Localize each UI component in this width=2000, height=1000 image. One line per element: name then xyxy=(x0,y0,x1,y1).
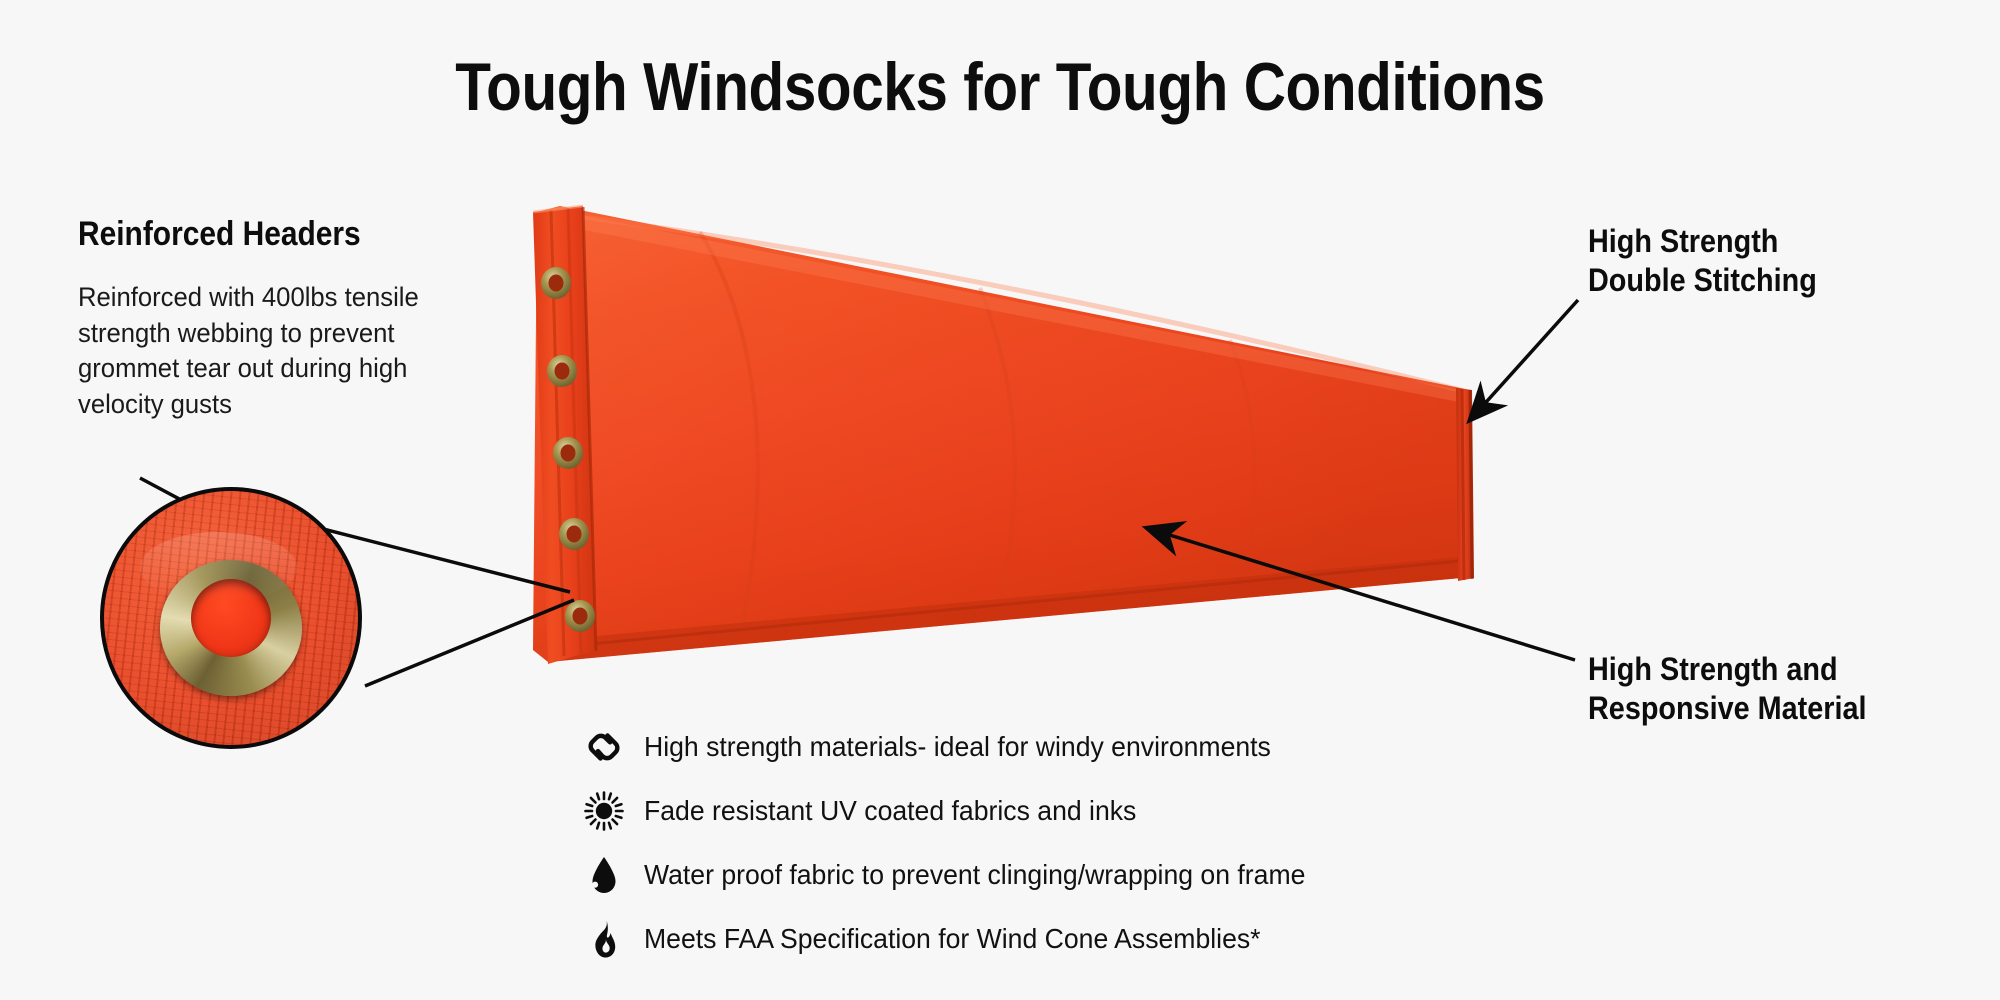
double-stitched-tail xyxy=(1456,388,1474,581)
sun-icon xyxy=(578,790,630,832)
grommet-highlight xyxy=(140,532,297,603)
callout-responsive-material: High Strength and Responsive Material xyxy=(1588,650,1867,728)
arrow-double-stitching xyxy=(1470,300,1578,420)
grommet-closeup-circle xyxy=(100,487,362,749)
flame-icon xyxy=(578,918,630,960)
feature-item-materials: High strength materials- ideal for windy… xyxy=(578,715,1578,779)
grommet xyxy=(559,518,589,550)
callout-responsive-material-line2: Responsive Material xyxy=(1588,689,1867,728)
grommet xyxy=(565,600,595,632)
feature-item-waterproof: Water proof fabric to prevent clinging/w… xyxy=(578,843,1578,907)
callout-double-stitching-line2: Double Stitching xyxy=(1588,261,1817,300)
water-drop-icon xyxy=(578,854,630,896)
page-title: Tough Windsocks for Tough Conditions xyxy=(140,48,1860,126)
callout-responsive-material-line1: High Strength and xyxy=(1588,650,1867,689)
feature-item-faa: Meets FAA Specification for Wind Cone As… xyxy=(578,907,1578,971)
feature-item-label: Fade resistant UV coated fabrics and ink… xyxy=(644,795,1136,827)
reinforced-headers-body: Reinforced with 400lbs tensile strength … xyxy=(78,280,420,423)
windsock-body xyxy=(533,206,1472,662)
grommet xyxy=(541,267,571,299)
chain-link-icon xyxy=(578,726,630,768)
grommet xyxy=(547,355,577,387)
feature-item-label: Meets FAA Specification for Wind Cone As… xyxy=(644,923,1261,955)
grommet xyxy=(553,437,583,469)
feature-list: High strength materials- ideal for windy… xyxy=(578,715,1578,971)
feature-item-label: High strength materials- ideal for windy… xyxy=(644,731,1271,763)
callout-double-stitching-line1: High Strength xyxy=(1588,222,1817,261)
callout-double-stitching: High Strength Double Stitching xyxy=(1588,222,1817,300)
magnifier-line-bottom xyxy=(365,600,574,686)
grommet-group xyxy=(541,267,595,632)
reinforced-headers-heading: Reinforced Headers xyxy=(78,215,361,254)
reinforced-header-band xyxy=(533,206,596,664)
feature-item-label: Water proof fabric to prevent clinging/w… xyxy=(644,859,1305,891)
arrow-responsive-material xyxy=(1147,528,1575,660)
infographic-canvas: Tough Windsocks for Tough Conditions xyxy=(0,0,2000,1000)
feature-item-uv: Fade resistant UV coated fabrics and ink… xyxy=(578,779,1578,843)
